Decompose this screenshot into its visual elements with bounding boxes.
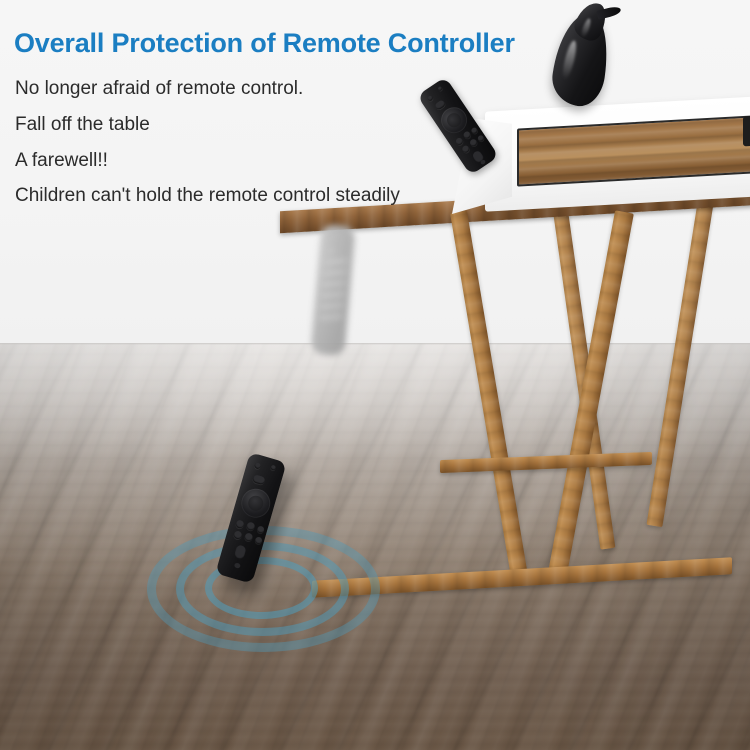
drawer-handle-notch <box>743 116 750 147</box>
media-console <box>455 96 750 214</box>
page-title: Overall Protection of Remote Controller <box>14 28 515 59</box>
body-line-4: Children can't hold the remote control s… <box>15 185 400 207</box>
body-line-3: A farewell!! <box>15 150 108 172</box>
motion-blur-streaks <box>319 250 347 324</box>
body-line-2: Fall off the table <box>15 114 150 136</box>
table-leg-rear-right <box>646 199 713 527</box>
penguin-figurine <box>549 2 621 106</box>
table-stretcher-upper <box>440 452 652 473</box>
product-feature-image: Overall Protection of Remote Controller … <box>0 0 750 750</box>
table-leg-front-left <box>450 211 528 581</box>
body-line-1: No longer afraid of remote control. <box>15 78 303 100</box>
